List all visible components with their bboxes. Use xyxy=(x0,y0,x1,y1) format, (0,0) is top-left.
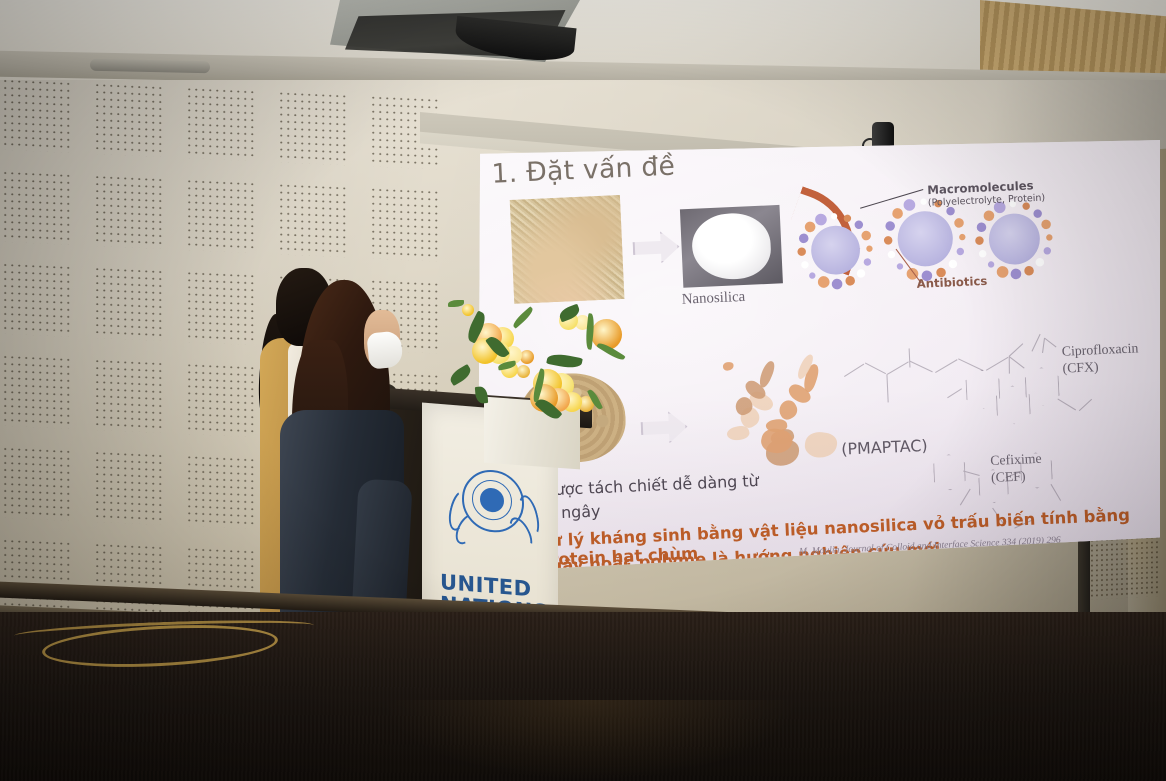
foliage xyxy=(448,300,464,307)
flower xyxy=(462,304,474,316)
foliage xyxy=(448,364,474,386)
ceiling-vent xyxy=(90,59,210,74)
un-emblem-icon xyxy=(444,458,540,562)
foliage xyxy=(511,306,535,329)
flower xyxy=(517,365,530,378)
flower xyxy=(520,350,534,364)
foliage xyxy=(475,386,488,404)
flower-arrangement xyxy=(440,296,630,436)
conference-photo-scene: 1. Đặt vấn đề Nanosilica Macromolecules … xyxy=(0,0,1166,781)
floor-light-pool xyxy=(380,700,800,781)
foliage xyxy=(546,352,583,370)
